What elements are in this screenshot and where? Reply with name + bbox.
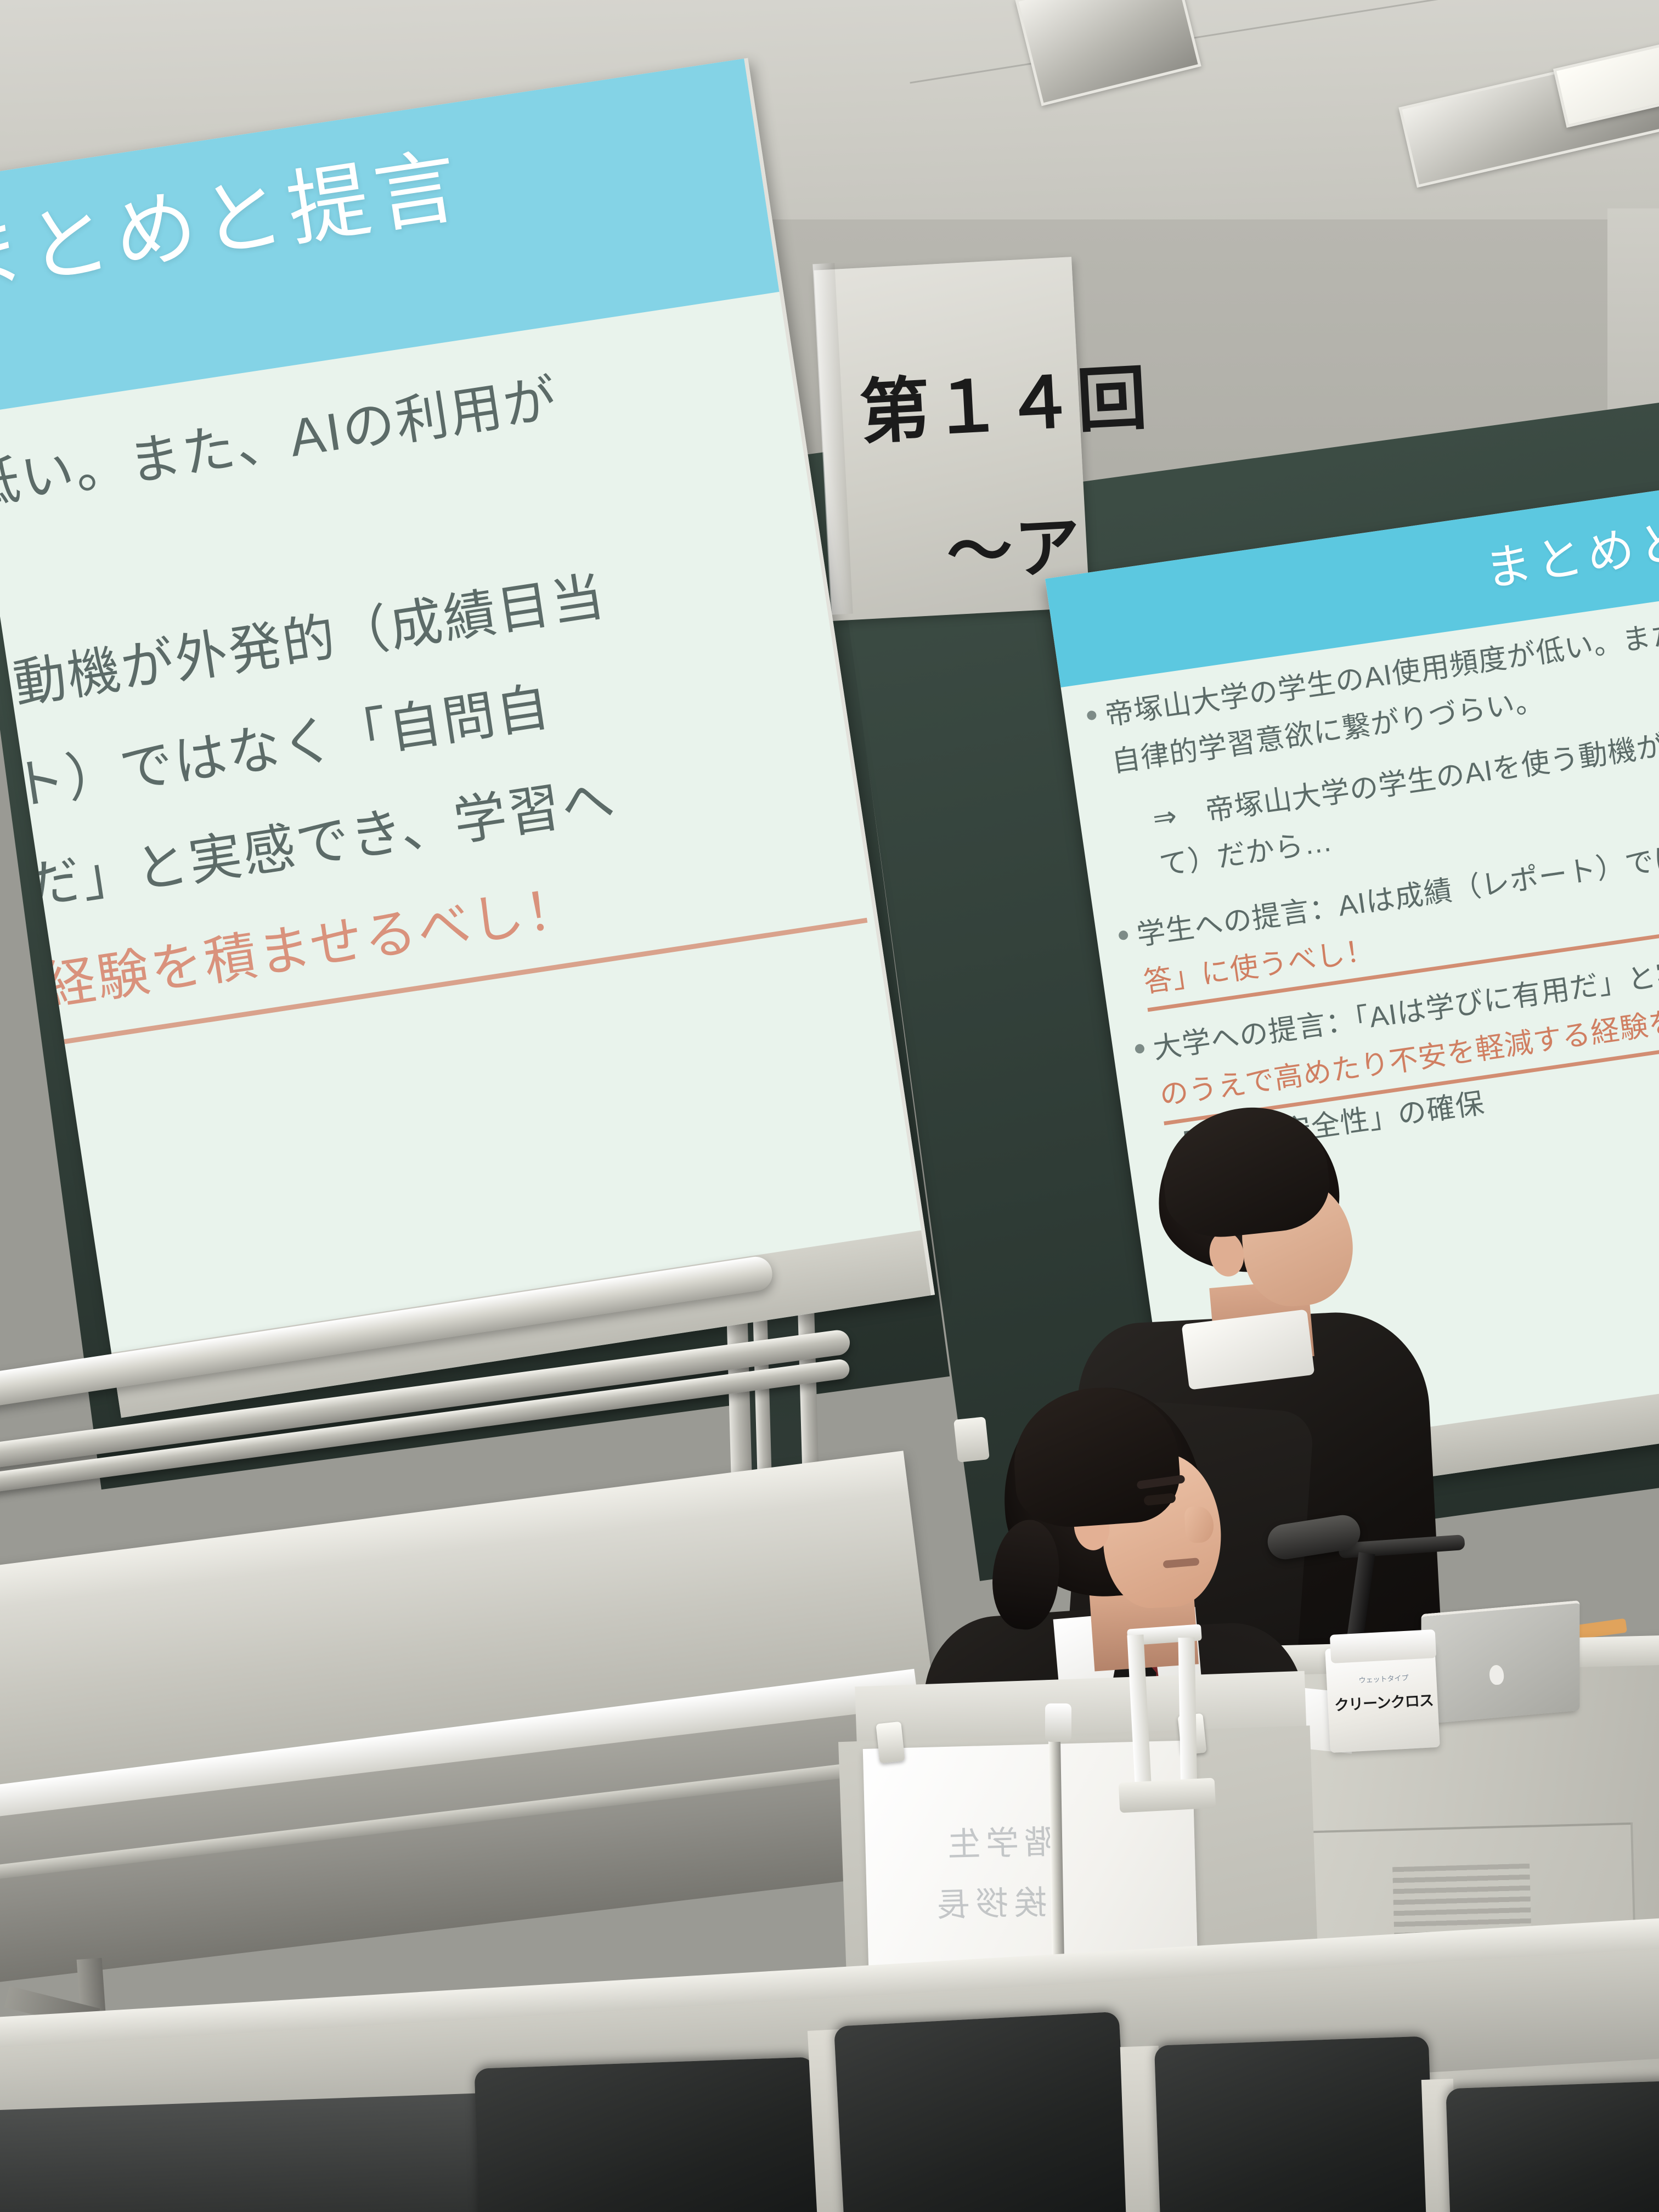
laptop	[1421, 1600, 1580, 1724]
bullet-dot-icon	[1118, 930, 1128, 940]
screen-bracket	[953, 1417, 990, 1463]
bullet-dot-icon	[1086, 710, 1097, 720]
audience-chair	[834, 2012, 1130, 2212]
audience-chair	[474, 2057, 820, 2212]
banner-line-1: 第１４回	[857, 341, 1152, 457]
audience-chair	[1154, 2036, 1435, 2212]
sign-pole-cap	[1045, 1703, 1071, 1742]
lecture-hall-photo: 第１４回 〜ア まとめと提言 頻度が低い。また、AIの利用が らい。 Iを使う動…	[0, 0, 1659, 2212]
acrylic-stand-foot	[1119, 1778, 1216, 1813]
acrylic-stand-post	[1178, 1638, 1197, 1797]
audience-chair	[1446, 2081, 1659, 2212]
event-banner: 第１４回 〜ア	[814, 257, 1090, 621]
slide-title-left: まとめと提言	[0, 152, 360, 312]
paper-sign-line-2: 挨拶長	[931, 1876, 1047, 1926]
floor-shadow-area	[0, 2092, 529, 2212]
slide-body-right: 帝塚山大学の学生のAI使用頻度が低い。また 自律的学習意欲に繋がりづらい。 ⇒ …	[1084, 586, 1659, 1189]
bullet-dot-icon	[1135, 1043, 1145, 1054]
binder-clip-icon	[876, 1722, 905, 1763]
wipes-container-lid	[1330, 1629, 1436, 1663]
slide-body-left: 頻度が低い。また、AIの利用が らい。 Iを使う動機が外発的（成績目当 レポート…	[0, 314, 883, 1170]
paper-sign-line-1: 階学生	[941, 1815, 1058, 1866]
